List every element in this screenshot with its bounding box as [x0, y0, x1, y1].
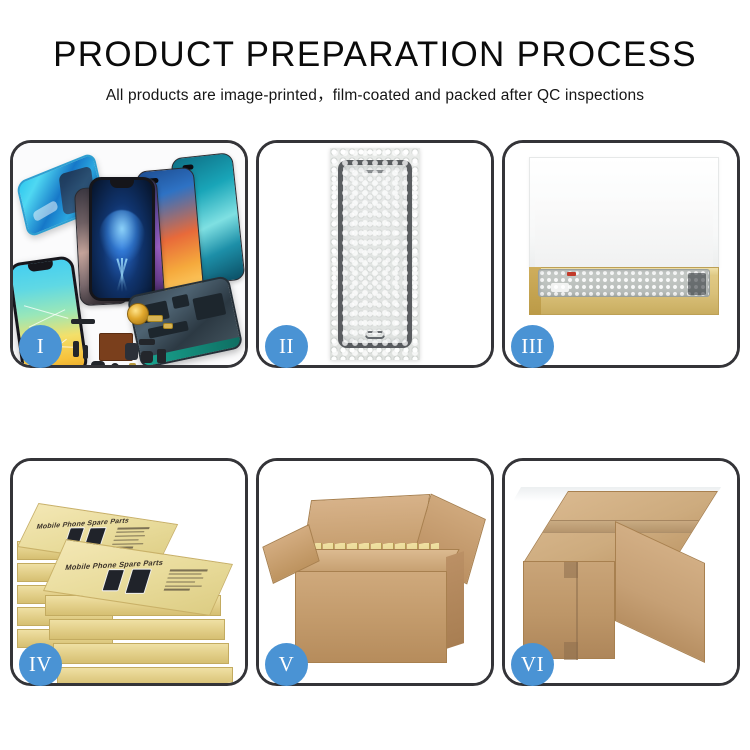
- step-badge-1: I: [19, 325, 62, 368]
- foam-padding-icon: [535, 199, 713, 271]
- small-components-cluster: [71, 319, 201, 365]
- step-badge-4: IV: [19, 643, 62, 686]
- step-badge-3: III: [511, 325, 554, 368]
- step-badge-2: II: [265, 325, 308, 368]
- process-step-panel-5: V: [256, 458, 494, 686]
- process-step-panel-6: VI: [502, 458, 740, 686]
- step-badge-5: V: [265, 643, 308, 686]
- page-title: PRODUCT PREPARATION PROCESS: [0, 36, 750, 74]
- step-badge-6: VI: [511, 643, 554, 686]
- process-step-panel-1: I: [10, 140, 248, 368]
- wrapped-screen-icon: [338, 160, 412, 348]
- carton-front-face: [295, 571, 447, 663]
- process-steps-grid: I II: [10, 140, 740, 686]
- carton-right-face: [446, 551, 464, 649]
- process-step-panel-3: III: [502, 140, 740, 368]
- process-step-panel-2: II: [256, 140, 494, 368]
- bubble-wrap-icon: [330, 148, 420, 360]
- front-glass-icon: [89, 177, 155, 301]
- page-subtitle: All products are image-printed，film-coat…: [0, 83, 750, 105]
- speaker-coil-icon: [127, 303, 149, 325]
- sealed-carton-right-face: [615, 521, 705, 663]
- process-step-panel-4: Mobile Phone Spare Parts Mobile Phone Sp…: [10, 458, 248, 686]
- product-preparation-infographic: PRODUCT PREPARATION PROCESS All products…: [0, 0, 750, 750]
- packed-screen-icon: [538, 269, 710, 297]
- header: PRODUCT PREPARATION PROCESS All products…: [0, 0, 750, 105]
